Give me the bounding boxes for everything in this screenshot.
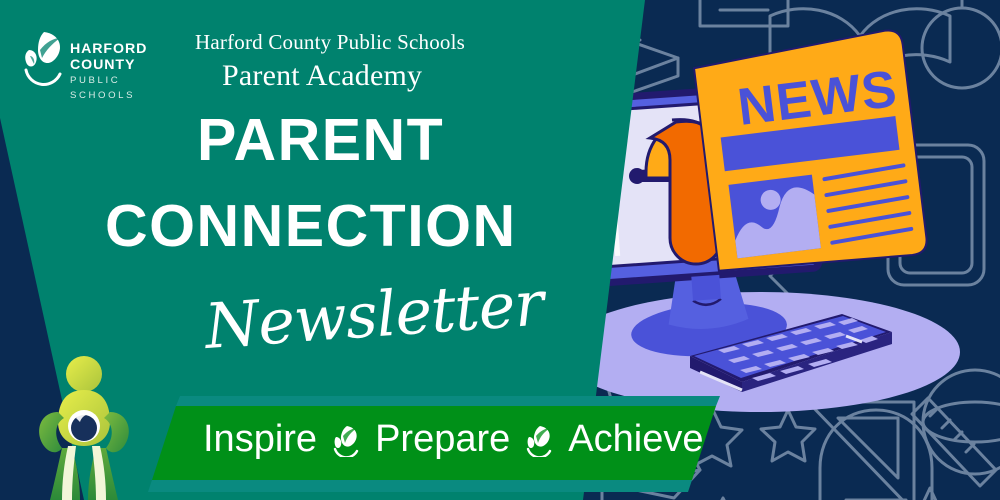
tagline-row: Inspire Prepare Achieve: [203, 418, 703, 461]
leaf-sprout-icon: [331, 423, 361, 457]
leaf-sprout-icon: [524, 423, 554, 457]
tagline-item-prepare: Prepare: [375, 418, 510, 461]
tagline-item-inspire: Inspire: [203, 418, 317, 461]
tagline-item-achieve: Achieve: [568, 418, 703, 461]
newsletter-banner: NEWS: [0, 0, 1000, 500]
